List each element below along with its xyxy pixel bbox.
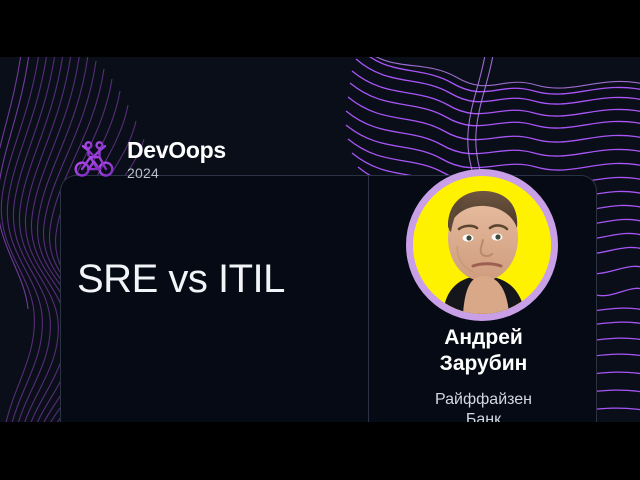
avatar <box>406 169 558 321</box>
slide-stage: SRE vs ITIL <box>0 0 640 480</box>
tandem-bicycle-icon <box>72 137 116 181</box>
talk-title-pane: SRE vs ITIL <box>61 176 369 422</box>
video-frame: SRE vs ITIL <box>0 57 640 422</box>
brand-name: DevOops <box>127 139 226 162</box>
brand-logo: DevOops 2024 <box>72 137 226 181</box>
speaker-portrait-icon <box>413 176 551 314</box>
brand-year: 2024 <box>127 166 226 180</box>
letterbox-top <box>0 0 640 57</box>
speaker-info: Андрей Зарубин Райффайзен Банк <box>371 325 596 422</box>
avatar-disc <box>413 176 551 314</box>
speaker-company: Райффайзен Банк <box>371 390 596 423</box>
letterbox-bottom <box>0 422 640 480</box>
talk-title: SRE vs ITIL <box>77 258 285 300</box>
speaker-name: Андрей Зарубин <box>371 325 596 378</box>
